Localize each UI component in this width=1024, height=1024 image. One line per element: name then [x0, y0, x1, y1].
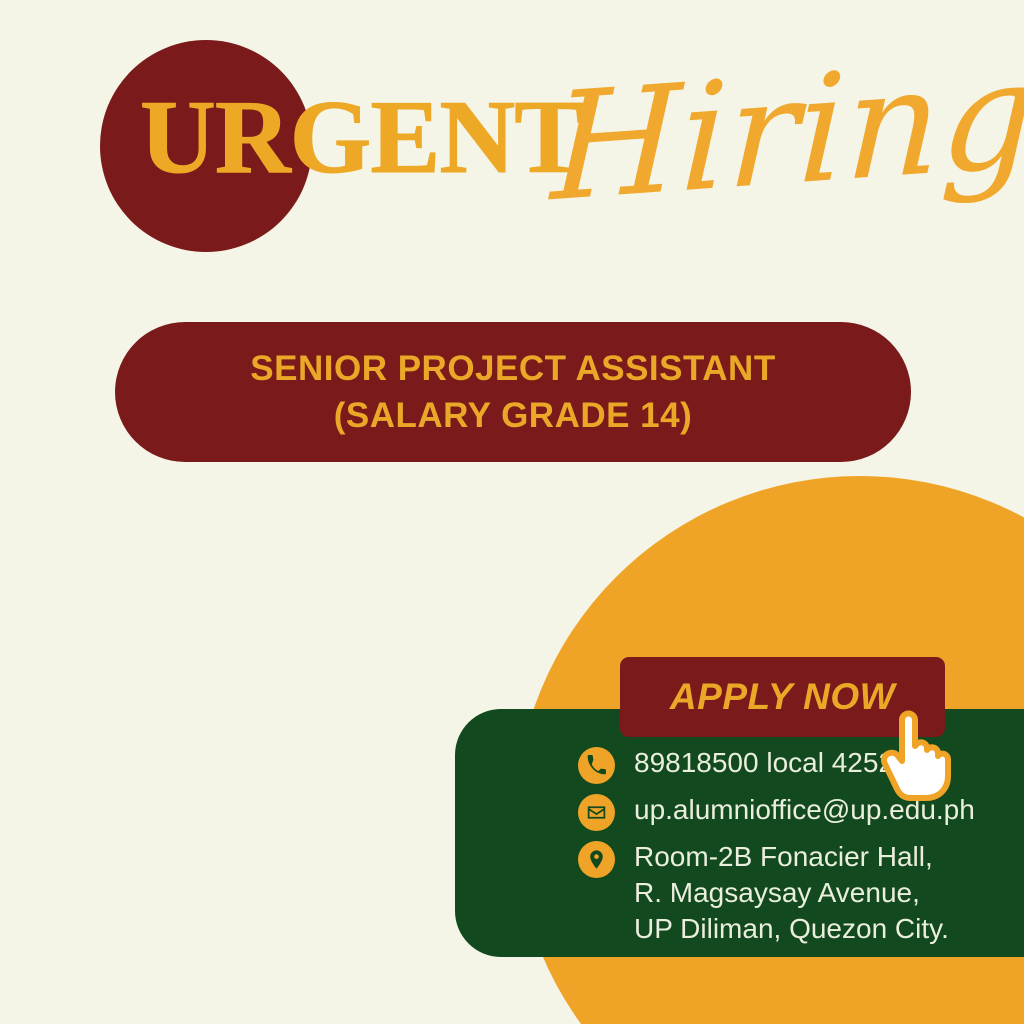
contact-email-text: up.alumnioffice@up.edu.ph — [634, 792, 975, 828]
apply-now-label: APPLY NOW — [670, 676, 895, 718]
phone-icon — [578, 747, 615, 784]
job-title-line-1: SENIOR PROJECT ASSISTANT — [250, 345, 775, 392]
job-title-line-2: (SALARY GRADE 14) — [334, 392, 693, 439]
envelope-icon — [578, 794, 615, 831]
contact-phone-text: 89818500 local 4252 — [634, 745, 894, 781]
apply-now-button[interactable]: APPLY NOW — [620, 657, 945, 737]
contact-address-text: Room-2B Fonacier Hall, R. Magsaysay Aven… — [634, 839, 949, 947]
contact-item-address[interactable]: Room-2B Fonacier Hall, R. Magsaysay Aven… — [578, 839, 1018, 947]
contact-item-phone[interactable]: 89818500 local 4252 — [578, 745, 1018, 784]
contact-list: 89818500 local 4252 up.alumnioffice@up.e… — [578, 745, 1018, 955]
contact-item-email[interactable]: up.alumnioffice@up.edu.ph — [578, 792, 1018, 831]
poster-header: URGENT Hiring — [0, 0, 1024, 300]
hiring-poster: URGENT Hiring SENIOR PROJECT ASSISTANT (… — [0, 0, 1024, 1024]
hiring-headline: Hiring — [549, 26, 1024, 238]
map-pin-icon — [578, 841, 615, 878]
urgent-headline: URGENT — [140, 84, 583, 189]
job-title-banner: SENIOR PROJECT ASSISTANT (SALARY GRADE 1… — [115, 322, 911, 462]
